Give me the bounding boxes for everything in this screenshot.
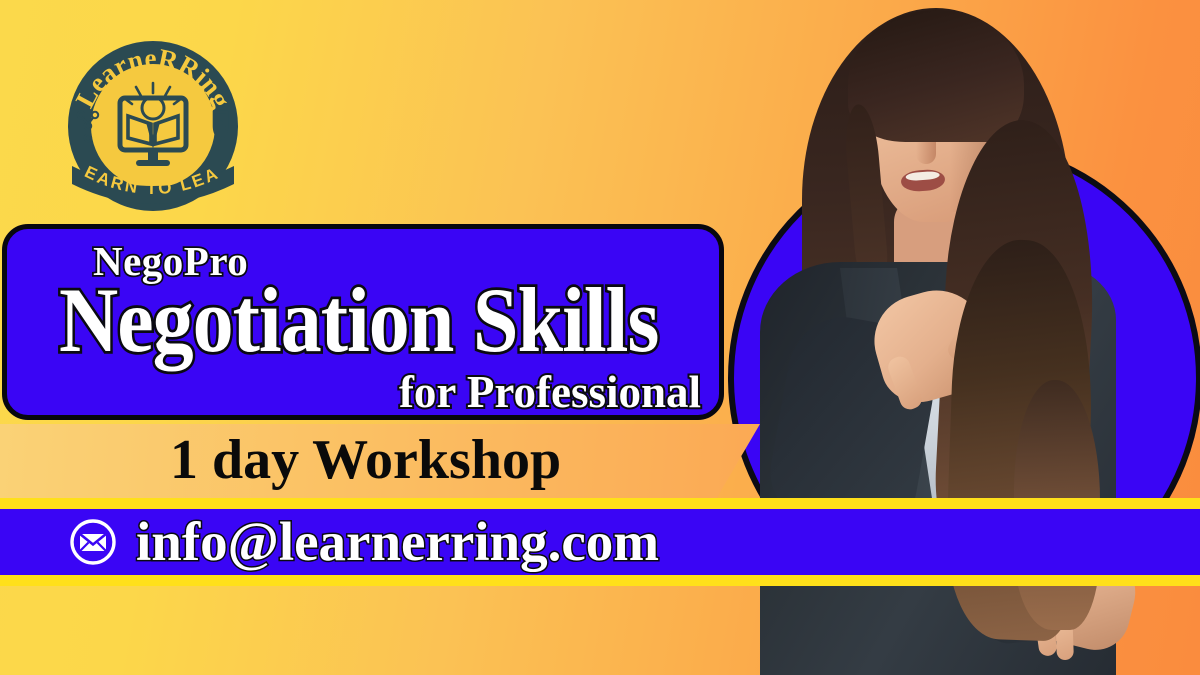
contact-stripe-top [0,498,1200,509]
monitor-base [136,160,170,166]
title-panel: NegoPro Negotiation Skills for Professio… [2,224,724,420]
envelope-in-circle-icon[interactable] [69,518,117,566]
course-headline: Negotiation Skills [59,275,658,367]
learnerring-logo[interactable]: LearneRRing [62,38,244,220]
contact-email[interactable]: info@learnerring.com [136,511,659,573]
logo-svg: LearneRRing [62,38,244,220]
workshop-label: 1 day Workshop [170,432,561,488]
promo-banner: LearneRRing [0,0,1200,675]
envelope-svg [69,518,117,566]
course-subhead: for Professional [399,370,701,415]
contact-stripe-bottom [0,575,1200,586]
